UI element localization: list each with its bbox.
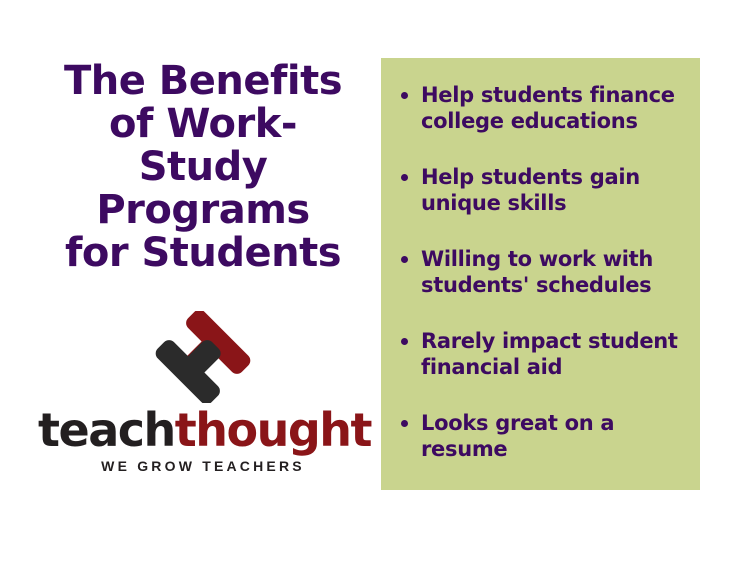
- title-line-2: of Work-: [42, 103, 364, 146]
- logo-word-teach: teach: [38, 403, 175, 457]
- list-item: Rarely impact student financial aid: [395, 328, 684, 380]
- title-line-3: Study: [42, 146, 364, 189]
- list-item-label: Help students gain unique skills: [421, 165, 640, 215]
- page-title: The Benefits of Work- Study Programs for…: [38, 60, 368, 275]
- title-line-5: for Students: [42, 232, 364, 275]
- left-column: The Benefits of Work- Study Programs for…: [38, 60, 368, 500]
- list-item-label: Looks great on a resume: [421, 411, 614, 461]
- list-item: Help students gain unique skills: [395, 164, 684, 216]
- title-line-1: The Benefits: [42, 60, 364, 103]
- teachthought-logo: teachthought WE GROW TEACHERS: [38, 311, 368, 474]
- benefits-list: Help students finance college educations…: [395, 82, 684, 462]
- logo-word-thought: thought: [175, 403, 371, 457]
- logo-tagline: WE GROW TEACHERS: [38, 458, 368, 474]
- title-line-4: Programs: [42, 189, 364, 232]
- list-item: Willing to work with students' schedules: [395, 246, 684, 298]
- list-item-label: Help students finance college educations: [421, 83, 675, 133]
- list-item-label: Willing to work with students' schedules: [421, 247, 653, 297]
- teachthought-logo-mark-icon: [150, 311, 256, 403]
- bullet-icon: [401, 420, 408, 427]
- logo-wordmark: teachthought: [38, 407, 368, 453]
- list-item: Help students finance college educations: [395, 82, 684, 134]
- bullet-icon: [401, 256, 408, 263]
- benefits-panel: Help students finance college educations…: [381, 58, 700, 490]
- bullet-icon: [401, 92, 408, 99]
- list-item: Looks great on a resume: [395, 410, 684, 462]
- bullet-icon: [401, 174, 408, 181]
- slide-canvas: The Benefits of Work- Study Programs for…: [0, 0, 756, 567]
- list-item-label: Rarely impact student financial aid: [421, 329, 678, 379]
- bullet-icon: [401, 338, 408, 345]
